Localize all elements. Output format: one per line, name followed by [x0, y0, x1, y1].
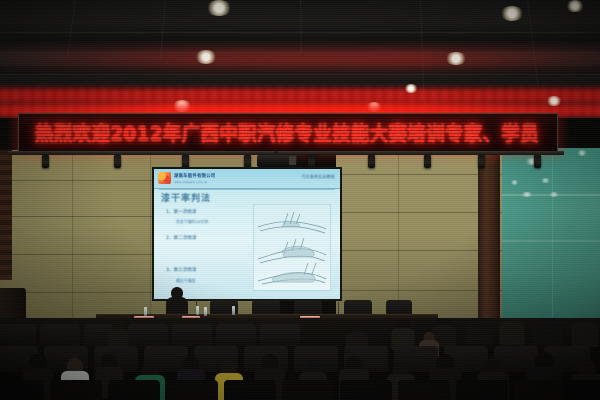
auditorium-seat: [0, 380, 44, 400]
auditorium-seat: [50, 380, 102, 400]
auditorium-seat: [172, 324, 212, 346]
ceiling-spotlight: [195, 50, 217, 64]
banner-text: 热烈欢迎2012年广西中职汽修专业技能大赛培训专家、学员: [19, 119, 539, 147]
audience-member: [108, 320, 128, 346]
slide-header-note: 汽车钣喷实训教程: [301, 174, 335, 180]
slide-header-rule: [159, 189, 335, 190]
photo-scene: 热烈欢迎2012年广西中职汽修专业技能大赛培训专家、学员 湖南车船件有限公司 w…: [0, 0, 600, 400]
water-bottle: [144, 307, 147, 316]
projection-screen: 湖南车船件有限公司 www.example.com.cn 汽车钣喷实训教程 漆干…: [152, 167, 342, 301]
water-bottle: [196, 306, 199, 315]
slide-company-name: 湖南车船件有限公司: [174, 173, 215, 179]
company-logo-icon: [158, 172, 171, 184]
slide-title: 漆干率判法: [161, 191, 211, 204]
auditorium-seat: [340, 380, 392, 400]
ceiling-spotlight: [445, 52, 467, 65]
audience-member: [572, 318, 598, 344]
auditorium-seat: [514, 380, 566, 400]
ceiling: [0, 0, 600, 118]
led-welcome-banner: 热烈欢迎2012年广西中职汽修专业技能大赛培训专家、学员: [18, 113, 558, 153]
track-light: [368, 155, 375, 168]
audience-member: [466, 318, 492, 342]
auditorium-seat: [108, 380, 160, 400]
slide-bullet-3: 3、第三次喷漆: [166, 267, 197, 273]
auditorium-seat: [128, 324, 168, 346]
projector-lens: [289, 156, 296, 165]
track-light: [424, 155, 431, 168]
auditorium-seat: [216, 324, 256, 346]
spray-diagram-svg: [254, 205, 330, 290]
track-light: [478, 155, 485, 168]
ceiling-led-strip-1: [0, 88, 600, 103]
audience-member: [534, 318, 562, 342]
audience-member: [346, 322, 367, 348]
water-bottle: [204, 307, 207, 316]
presentation-slide: 湖南车船件有限公司 www.example.com.cn 汽车钣喷实训教程 漆干…: [154, 169, 340, 299]
slide-bullet-2: 2、第二次喷漆: [166, 235, 197, 241]
water-bottle: [232, 306, 235, 315]
wood-trim-left: [0, 150, 12, 280]
track-light: [534, 155, 541, 168]
ceiling-red-glow-mid: [0, 60, 600, 66]
auditorium-seat: [40, 324, 80, 346]
track-light: [114, 155, 121, 168]
auditorium-seat: [0, 324, 36, 346]
auditorium-seat: [564, 380, 600, 400]
ceiling-spotlight: [206, 0, 232, 16]
ceiling-spotlight: [566, 0, 584, 12]
auditorium-seat: [224, 380, 276, 400]
auditorium-seat: [166, 380, 218, 400]
slide-bullet-1: 1、第一次喷漆: [166, 209, 197, 215]
auditorium-seat: [260, 324, 300, 346]
track-light: [42, 155, 49, 168]
ceiling-spotlight: [500, 6, 524, 21]
auditorium-seat: [282, 380, 334, 400]
auditorium-seat: [398, 380, 450, 400]
auditorium-seat: [456, 380, 508, 400]
slide-bullet-1-sub: 完全干燥约20分钟: [176, 219, 208, 225]
slide-company-sub: www.example.com.cn: [174, 180, 208, 184]
wood-column: [478, 150, 500, 340]
slide-bullet-3-sub: 最后干燥层: [176, 278, 195, 284]
slide-diagram-panel: [253, 204, 331, 291]
audience-seating: [0, 318, 600, 400]
audience-member: [392, 318, 414, 346]
audience-member: [500, 318, 524, 342]
ceiling-spotlight: [404, 84, 418, 93]
